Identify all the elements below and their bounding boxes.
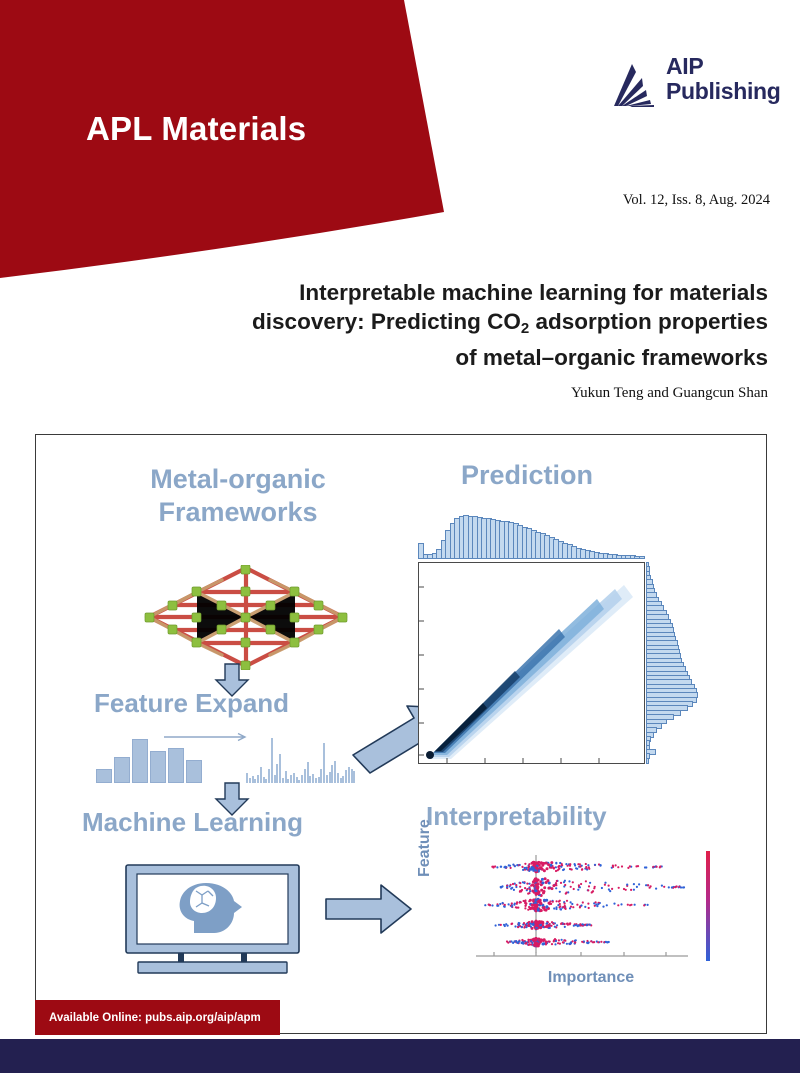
shap-beeswarm-plot: Feature Importance [434, 847, 734, 999]
shap-point [513, 904, 515, 906]
shap-point [625, 889, 627, 891]
heading-interpretability: Interpretability [426, 801, 607, 832]
shap-point [515, 884, 517, 886]
shap-point [604, 884, 606, 886]
prediction-joint-plot [406, 515, 706, 785]
spectrum-bar [260, 767, 262, 783]
shap-point [504, 906, 506, 908]
shap-point [523, 926, 525, 928]
spectrum-bar [318, 777, 320, 783]
spectrum-bar [329, 772, 331, 783]
shap-point [588, 868, 590, 870]
spectrum-bar [290, 775, 292, 783]
shap-point [524, 899, 526, 901]
shap-point [587, 889, 589, 891]
shap-point [519, 882, 521, 884]
shap-point [564, 880, 566, 882]
article-title-line3: of metal–organic frameworks [455, 345, 768, 370]
shap-point [600, 864, 602, 866]
shap-point [617, 866, 619, 868]
shap-point [551, 867, 553, 869]
article-title: Interpretable machine learning for mater… [128, 278, 768, 372]
spectrum-bar [340, 778, 342, 783]
shap-point [484, 904, 486, 906]
spectrum-bar [334, 761, 336, 783]
shap-point [538, 939, 541, 942]
shap-point [569, 863, 571, 865]
shap-point [523, 900, 525, 902]
shap-point [608, 888, 610, 890]
shap-point [567, 865, 569, 867]
shap-point [520, 901, 522, 903]
shap-point [602, 906, 604, 908]
shap-point [600, 941, 602, 943]
shap-point [542, 923, 544, 925]
shap-point [559, 903, 561, 905]
feature-bar [114, 757, 130, 783]
journal-title: APL Materials [86, 110, 306, 148]
spectrum-bar [293, 773, 295, 783]
shap-point [545, 923, 547, 925]
article-title-line1: Interpretable machine learning for mater… [299, 280, 768, 305]
spectrum-bar [257, 775, 259, 783]
shap-point [523, 922, 525, 924]
shap-point [530, 885, 532, 887]
shap-point [535, 924, 538, 927]
shap-point [554, 943, 556, 945]
shap-point [601, 887, 603, 889]
shap-point [573, 888, 575, 890]
shap-point [524, 887, 526, 889]
shap-point [559, 862, 561, 864]
shap-point [580, 883, 582, 885]
shap-point [558, 900, 560, 902]
article-title-line2-b: adsorption properties [529, 309, 768, 334]
shap-point [638, 883, 640, 885]
shap-point [512, 864, 514, 866]
shap-point [504, 866, 506, 868]
shap-point [542, 926, 544, 928]
aip-wordmark-line1: AIP [666, 54, 781, 79]
shap-point [555, 940, 557, 942]
shap-point [539, 867, 542, 870]
prediction-scatter-axes [418, 562, 645, 764]
shap-point [508, 903, 510, 905]
shap-point [620, 903, 622, 905]
shap-point [597, 903, 599, 905]
shap-point [564, 903, 566, 905]
shap-point [572, 940, 574, 942]
shap-point [564, 884, 566, 886]
shap-point [636, 886, 638, 888]
shap-point [566, 900, 568, 902]
shap-point [518, 922, 520, 924]
shap-point [661, 885, 663, 887]
shap-point [552, 884, 555, 887]
shap-point [496, 905, 498, 907]
shap-point [550, 903, 552, 905]
article-authors: Yukun Teng and Guangcun Shan [128, 385, 768, 402]
shap-point [495, 924, 497, 926]
shap-point [645, 866, 647, 868]
shap-point [559, 891, 561, 893]
shap-point [555, 862, 557, 864]
shap-point [539, 926, 542, 929]
shap-point [558, 867, 560, 869]
cover-graphic-panel: Metal-organic Frameworks [35, 434, 767, 1034]
prediction-density-cloud [419, 563, 644, 763]
shap-point [567, 923, 569, 925]
shap-point [575, 924, 577, 926]
spectrum-bar [320, 769, 322, 783]
shap-point [535, 939, 538, 942]
shap-point [588, 941, 590, 943]
shap-point [626, 884, 628, 886]
shap-point [556, 900, 558, 902]
shap-point [537, 882, 540, 885]
shap-point [571, 903, 573, 905]
heading-machine-learning: Machine Learning [82, 807, 303, 838]
shap-point [585, 880, 587, 882]
shap-point [570, 906, 572, 908]
shap-point [531, 904, 534, 907]
shap-point [574, 942, 576, 944]
shap-point [504, 904, 506, 906]
shap-point [565, 908, 567, 910]
shap-point [541, 878, 544, 881]
shap-point [543, 899, 546, 902]
spectrum-bar [323, 743, 325, 783]
shap-point [524, 907, 526, 909]
shap-point [522, 869, 524, 871]
spectrum-bar [312, 774, 314, 783]
spectrum-bar [326, 775, 328, 783]
shap-point [560, 882, 562, 884]
shap-point [500, 866, 502, 868]
feature-bar [168, 748, 184, 783]
shap-point [578, 884, 580, 886]
shap-point [558, 865, 560, 867]
shap-point [551, 887, 554, 890]
shap-point [553, 923, 555, 925]
shap-point [656, 866, 658, 868]
shap-point [561, 939, 563, 941]
shap-point [494, 865, 496, 867]
shap-point [542, 862, 545, 865]
shap-point [643, 904, 645, 906]
shap-point [491, 904, 493, 906]
shap-point [526, 923, 528, 925]
shap-point [543, 938, 546, 941]
shap-point [552, 901, 554, 903]
shap-point [517, 926, 519, 928]
spectrum-bar [274, 775, 276, 783]
shap-point [553, 907, 555, 909]
shap-point [565, 893, 567, 895]
shap-point [516, 901, 518, 903]
spectrum-bar [268, 769, 270, 783]
mof-lattice-icon [136, 565, 356, 670]
shap-point [621, 865, 623, 867]
shap-point [512, 883, 514, 885]
spectrum-bar [307, 762, 309, 783]
shap-colorbar [706, 851, 710, 961]
shap-point [537, 892, 540, 895]
shap-point [530, 944, 532, 946]
spectrum-bar [271, 738, 273, 783]
shap-point [650, 885, 652, 887]
shap-point [526, 888, 528, 890]
shap-point [540, 861, 543, 864]
shap-point [668, 886, 670, 888]
shap-point [525, 867, 527, 869]
shap-point [634, 904, 636, 906]
spectrum-bar [342, 776, 344, 783]
shap-point [680, 886, 682, 888]
available-online-badge[interactable]: Available Online: pubs.aip.org/aip/apm [35, 1000, 280, 1035]
spectrum-bar [337, 773, 339, 783]
shap-point [587, 903, 589, 905]
issue-volume-line: Vol. 12, Iss. 8, Aug. 2024 [623, 192, 770, 209]
shap-point [540, 889, 543, 892]
shap-point [545, 941, 547, 943]
shap-point [577, 889, 579, 891]
shap-point [559, 905, 561, 907]
spectrum-bar [345, 770, 347, 783]
spectrum-bar [348, 767, 350, 783]
shap-point [573, 925, 575, 927]
feature-bar [150, 751, 166, 783]
spectrum-bar [252, 776, 254, 783]
shap-point [635, 865, 637, 867]
shap-point [579, 906, 581, 908]
shap-point [549, 900, 551, 902]
shap-point [589, 882, 591, 884]
shap-point [579, 923, 581, 925]
shap-y-axis-label: Feature [416, 819, 434, 877]
shap-point [553, 940, 555, 942]
shap-point [515, 940, 517, 942]
shap-point [575, 867, 577, 869]
shap-point [521, 889, 523, 891]
shap-point [527, 893, 529, 895]
shap-point [579, 866, 581, 868]
feature-bar [132, 739, 148, 783]
shap-point [562, 941, 564, 943]
shap-point [555, 906, 557, 908]
spectrum-bar [265, 779, 267, 783]
shap-point [545, 905, 548, 908]
heading-feature-expand: Feature Expand [94, 688, 289, 719]
right-arrow-icon [325, 883, 413, 935]
hist-bar [646, 758, 649, 764]
shap-point [630, 904, 632, 906]
shap-point [627, 867, 629, 869]
shap-point [515, 886, 517, 888]
heading-metal-organic-frameworks: Metal-organic Frameworks [98, 463, 378, 529]
shap-point [510, 940, 512, 942]
shap-point [534, 889, 537, 892]
shap-point [652, 866, 654, 868]
shap-point [561, 922, 563, 924]
thin-right-arrow-icon [164, 732, 252, 742]
shap-point [563, 939, 565, 941]
shap-point [554, 926, 556, 928]
shap-point [582, 901, 584, 903]
aip-publishing-logo: AIP Publishing [612, 57, 774, 113]
shap-point [523, 882, 525, 884]
spectrum-bar [315, 778, 317, 783]
shap-point [612, 866, 614, 868]
spectrum-bar [301, 775, 303, 783]
spectrum-bar [331, 765, 333, 783]
shap-point [572, 906, 574, 908]
shap-point [581, 941, 583, 943]
shap-point [676, 885, 678, 887]
shap-point [579, 863, 581, 865]
shap-point [557, 942, 559, 944]
shap-point [543, 908, 546, 911]
shap-point [546, 925, 548, 927]
spectrum-bar [309, 776, 311, 783]
shap-point [615, 864, 617, 866]
prediction-top-histogram [418, 515, 643, 559]
shap-point [589, 924, 591, 926]
shap-point [556, 880, 558, 882]
article-title-line2-a: discovery: Predicting CO [252, 309, 521, 334]
shap-point [511, 905, 513, 907]
shap-point [645, 884, 647, 886]
shap-point [534, 907, 537, 910]
shap-point [588, 907, 590, 909]
shap-point [606, 904, 608, 906]
shap-point [521, 926, 523, 928]
shap-point [514, 925, 516, 927]
shap-point [584, 906, 586, 908]
aip-wordmark-line2: Publishing [666, 79, 781, 104]
aip-wordmark: AIP Publishing [666, 54, 781, 104]
shap-point [594, 864, 596, 866]
shap-point [525, 926, 527, 928]
shap-point [514, 865, 516, 867]
shap-point [534, 944, 537, 947]
shap-point [524, 905, 526, 907]
shap-point [506, 940, 508, 942]
shap-point [570, 901, 572, 903]
shap-point [659, 865, 661, 867]
shap-point [608, 885, 610, 887]
shap-point [630, 889, 632, 891]
shap-point [555, 887, 557, 889]
spectrum-bar [254, 779, 256, 783]
shap-point [500, 924, 502, 926]
shap-point [555, 866, 557, 868]
shap-point [574, 863, 576, 865]
heading-prediction: Prediction [461, 460, 593, 491]
shap-point [543, 886, 546, 889]
shap-point [524, 863, 526, 865]
spectrum-bar [287, 779, 289, 783]
shap-point [528, 883, 530, 885]
shap-point [593, 941, 595, 943]
shap-point [535, 862, 538, 865]
shap-point [510, 923, 512, 925]
shap-point [595, 901, 597, 903]
shap-point [506, 886, 508, 888]
shap-point [531, 920, 534, 923]
shap-point [560, 866, 562, 868]
shap-point [542, 891, 545, 894]
shap-point [537, 909, 540, 912]
shap-point [597, 941, 599, 943]
shap-point [532, 861, 535, 864]
shap-point [647, 904, 649, 906]
shap-point [527, 909, 529, 911]
heading-mof-line2: Frameworks [98, 496, 378, 529]
shap-point [500, 886, 502, 888]
shap-point [588, 885, 590, 887]
shap-point [618, 887, 620, 889]
shap-point [529, 868, 532, 871]
prediction-right-histogram [646, 562, 698, 762]
shap-point [544, 877, 547, 880]
shap-point [559, 908, 561, 910]
shap-point [593, 887, 595, 889]
shap-point [577, 925, 579, 927]
shap-point [516, 864, 518, 866]
shap-point [576, 904, 578, 906]
shap-point [489, 904, 491, 906]
shap-point [569, 922, 571, 924]
shap-point [647, 884, 649, 886]
shap-point [502, 902, 504, 904]
shap-point [519, 886, 521, 888]
shap-point [543, 869, 546, 872]
shap-point [581, 869, 583, 871]
shap-point [574, 940, 576, 942]
spectrum-bar [263, 777, 265, 783]
shap-point [564, 926, 566, 928]
shap-point [551, 943, 553, 945]
shap-point [556, 924, 558, 926]
shap-point [510, 884, 512, 886]
shap-point [510, 867, 512, 869]
shap-point [511, 902, 513, 904]
shap-point [563, 868, 565, 870]
spectrum-bar [298, 780, 300, 783]
shap-point [586, 867, 588, 869]
shap-point [521, 866, 523, 868]
shap-point [536, 885, 539, 888]
spectrum-bar [285, 771, 287, 783]
shap-point [558, 939, 560, 941]
monitor-brain-icon [120, 863, 305, 975]
shap-point [515, 906, 517, 908]
shap-point [534, 904, 537, 907]
shap-point [528, 863, 530, 865]
shap-point [580, 904, 582, 906]
shap-point [513, 889, 515, 891]
shap-point [581, 923, 583, 925]
feature-bar [96, 769, 112, 783]
shap-point [585, 863, 587, 865]
heading-mof-line1: Metal-organic [98, 463, 378, 496]
shap-point [607, 941, 609, 943]
shap-point [535, 899, 538, 902]
co2-subscript: 2 [521, 320, 529, 337]
aip-fan-logo-icon [612, 60, 662, 108]
shap-point [549, 941, 551, 943]
